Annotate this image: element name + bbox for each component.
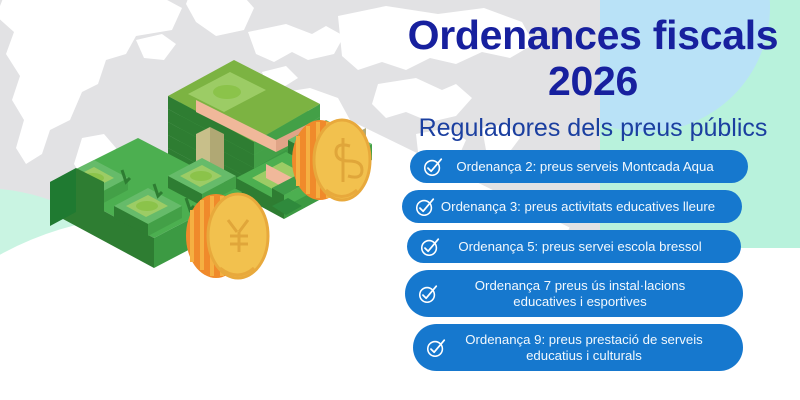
title-line-1: Ordenances fiscals [386, 12, 800, 58]
check-circle-icon [417, 283, 439, 305]
list-item[interactable]: Ordenança 2: preus serveis Montcada Aqua [410, 150, 748, 183]
check-circle-icon [414, 196, 436, 218]
page-subtitle: Reguladores dels preus públics [386, 113, 800, 143]
page-title: Ordenances fiscals 2026 [386, 12, 800, 104]
list-item[interactable]: Ordenança 7 preus ús instal·lacions educ… [405, 270, 743, 317]
ordinance-list: Ordenança 2: preus serveis Montcada Aqua… [386, 150, 800, 378]
title-line-2: 2026 [386, 58, 800, 104]
list-item[interactable]: Ordenança 5: preus servei escola bressol [407, 230, 741, 263]
check-circle-icon [419, 236, 441, 258]
list-item[interactable]: Ordenança 9: preus prestació de serveis … [413, 324, 743, 371]
list-item[interactable]: Ordenança 3: preus activitats educatives… [402, 190, 742, 223]
check-circle-icon [422, 156, 444, 178]
money-illustration [20, 30, 400, 300]
coin-yen-icon [186, 194, 268, 278]
check-circle-icon [425, 337, 447, 359]
list-item-label: Ordenança 3: preus activitats educatives… [440, 199, 742, 215]
list-item-label: Ordenança 9: preus prestació de serveis … [451, 332, 743, 364]
text-panel: Ordenances fiscals 2026 Reguladores dels… [386, 0, 800, 400]
infographic-banner: Ordenances fiscals 2026 Reguladores dels… [0, 0, 800, 400]
coin-dollar-icon [292, 120, 370, 200]
list-item-label: Ordenança 5: preus servei escola bressol [445, 239, 741, 255]
list-item-label: Ordenança 2: preus serveis Montcada Aqua [448, 159, 748, 175]
list-item-label: Ordenança 7 preus ús instal·lacions educ… [443, 278, 743, 310]
